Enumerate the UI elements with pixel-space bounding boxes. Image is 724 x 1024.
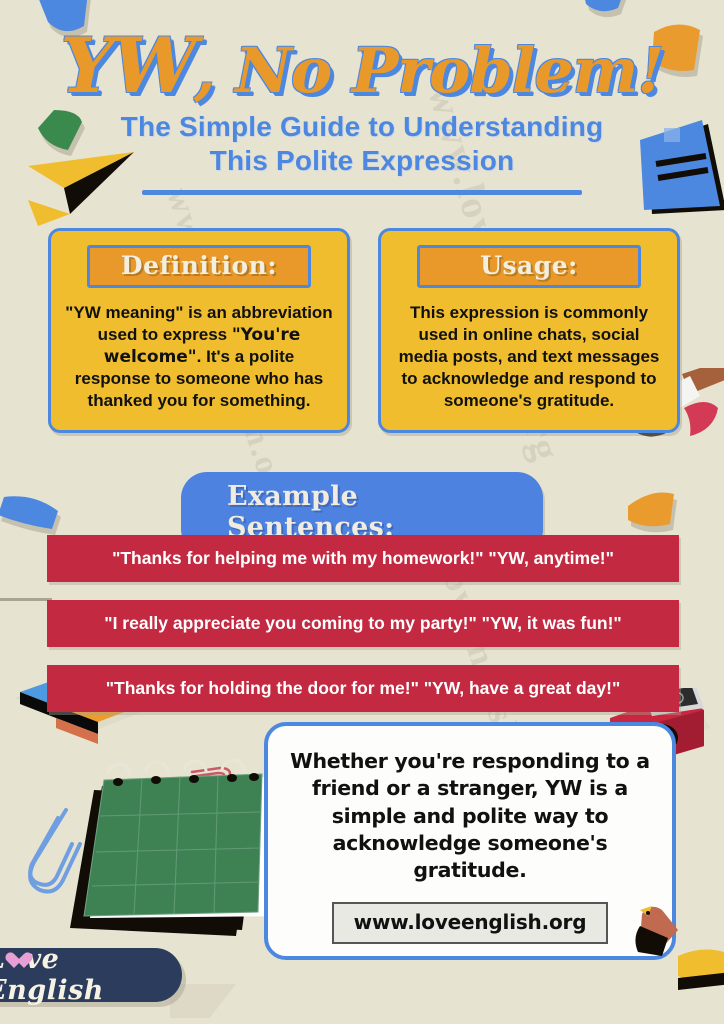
logo-text-before: L: [0, 944, 5, 975]
example-sentences-list: "Thanks for helping me with my homework!…: [47, 535, 679, 730]
side-divider: [0, 598, 52, 601]
love-english-logo[interactable]: Lve English: [0, 948, 182, 1002]
website-url: www.loveenglish.org: [354, 910, 587, 934]
example-sentences-label: Example Sentences:: [227, 481, 394, 543]
title-highlight: YW: [60, 21, 194, 110]
logo-text: Lve English: [0, 944, 182, 1006]
title-rest: , No Problem!: [194, 34, 664, 107]
bird-icon: [628, 900, 684, 966]
info-cards: Definition: "YW meaning" is an abbreviat…: [48, 228, 680, 433]
confetti-orange-midright: [626, 490, 686, 536]
usage-card-body: This expression is commonly used in onli…: [395, 302, 663, 412]
usage-text: This expression is commonly used in onli…: [399, 303, 660, 410]
list-item: "Thanks for helping me with my homework!…: [47, 535, 679, 582]
heart-icon: [6, 952, 24, 969]
title-divider: [142, 190, 582, 195]
notepad-icon: [46, 740, 276, 940]
subtitle-line-2: This Polite Expression: [0, 144, 724, 178]
page-title: YW, No Problem!: [0, 28, 724, 104]
definition-card-header: Definition:: [87, 245, 311, 288]
subtitle-line-1: The Simple Guide to Understanding: [0, 110, 724, 144]
list-item: "I really appreciate you coming to my pa…: [47, 600, 679, 647]
conclusion-text: Whether you're responding to a friend or…: [286, 748, 654, 884]
definition-card-title: Definition:: [121, 251, 277, 280]
poster-header: YW, No Problem! The Simple Guide to Unde…: [0, 0, 724, 195]
definition-card: Definition: "YW meaning" is an abbreviat…: [48, 228, 350, 433]
usage-card-title: Usage:: [480, 251, 578, 280]
website-url-box[interactable]: www.loveenglish.org: [332, 902, 609, 944]
confetti-yellow-bottomright: [678, 940, 724, 1000]
conclusion-card: Whether you're responding to a friend or…: [264, 722, 676, 960]
usage-card-header: Usage:: [417, 245, 641, 288]
infographic-poster: www.loveenglish.org www.loveenglish.org …: [0, 0, 724, 1024]
definition-card-body: "YW meaning" is an abbreviation used to …: [65, 302, 333, 412]
list-item: "Thanks for holding the door for me!" "Y…: [47, 665, 679, 712]
page-subtitle: The Simple Guide to Understanding This P…: [0, 110, 724, 178]
usage-card: Usage: This expression is commonly used …: [378, 228, 680, 433]
